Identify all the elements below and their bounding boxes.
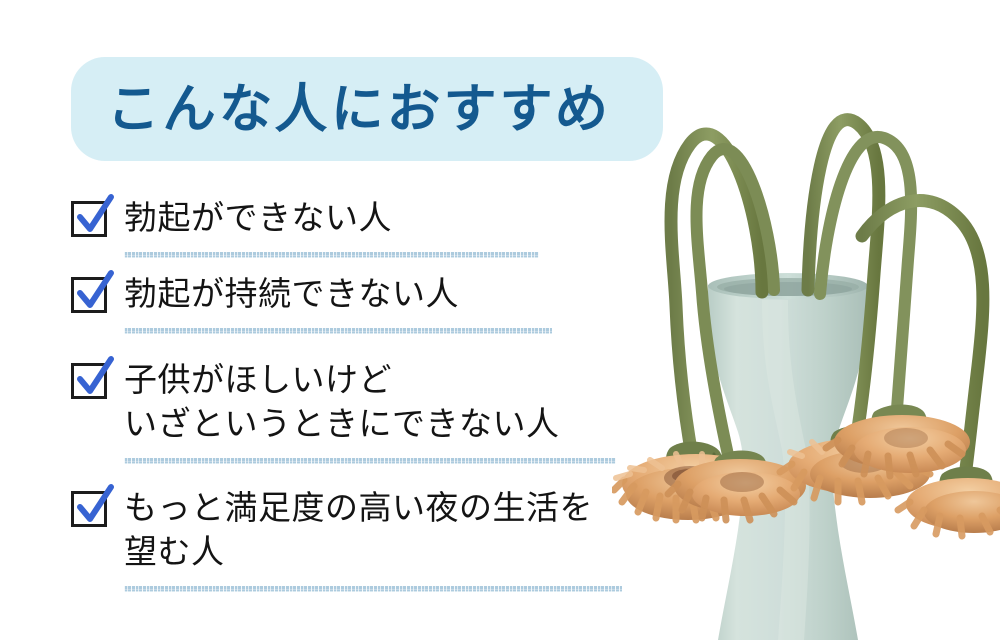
product-photo xyxy=(612,60,1000,640)
item-underline xyxy=(124,252,539,258)
page-title: こんな人におすすめ xyxy=(106,83,612,136)
list-item[interactable]: もっと満足度の高い夜の生活を 望む人 xyxy=(71,486,651,614)
item-underline xyxy=(124,458,616,464)
checkbox-checked-icon[interactable] xyxy=(71,491,107,527)
list-item-label: もっと満足度の高い夜の生活を 望む人 xyxy=(124,486,593,574)
list-item[interactable]: 勃起が持続できない人 xyxy=(71,272,651,358)
item-underline xyxy=(124,328,552,334)
list-item-label: 勃起が持続できない人 xyxy=(124,272,459,316)
checkbox-checked-icon[interactable] xyxy=(71,363,107,399)
list-item[interactable]: 勃起ができない人 xyxy=(71,196,651,272)
header-banner: こんな人におすすめ xyxy=(71,57,663,161)
list-item-label: 勃起ができない人 xyxy=(124,196,392,240)
recommendation-checklist: 勃起ができない人 勃起が持続できない人 子供がほしいけど いざというときにできな… xyxy=(71,196,651,614)
list-item-label: 子供がほしいけど いざというときにできない人 xyxy=(124,358,560,446)
checkbox-checked-icon[interactable] xyxy=(71,277,107,313)
promo-card: こんな人におすすめ 勃起ができない人 勃起が持続できない人 xyxy=(0,0,1000,640)
checkbox-checked-icon[interactable] xyxy=(71,201,107,237)
list-item[interactable]: 子供がほしいけど いざというときにできない人 xyxy=(71,358,651,486)
item-underline xyxy=(124,586,622,592)
